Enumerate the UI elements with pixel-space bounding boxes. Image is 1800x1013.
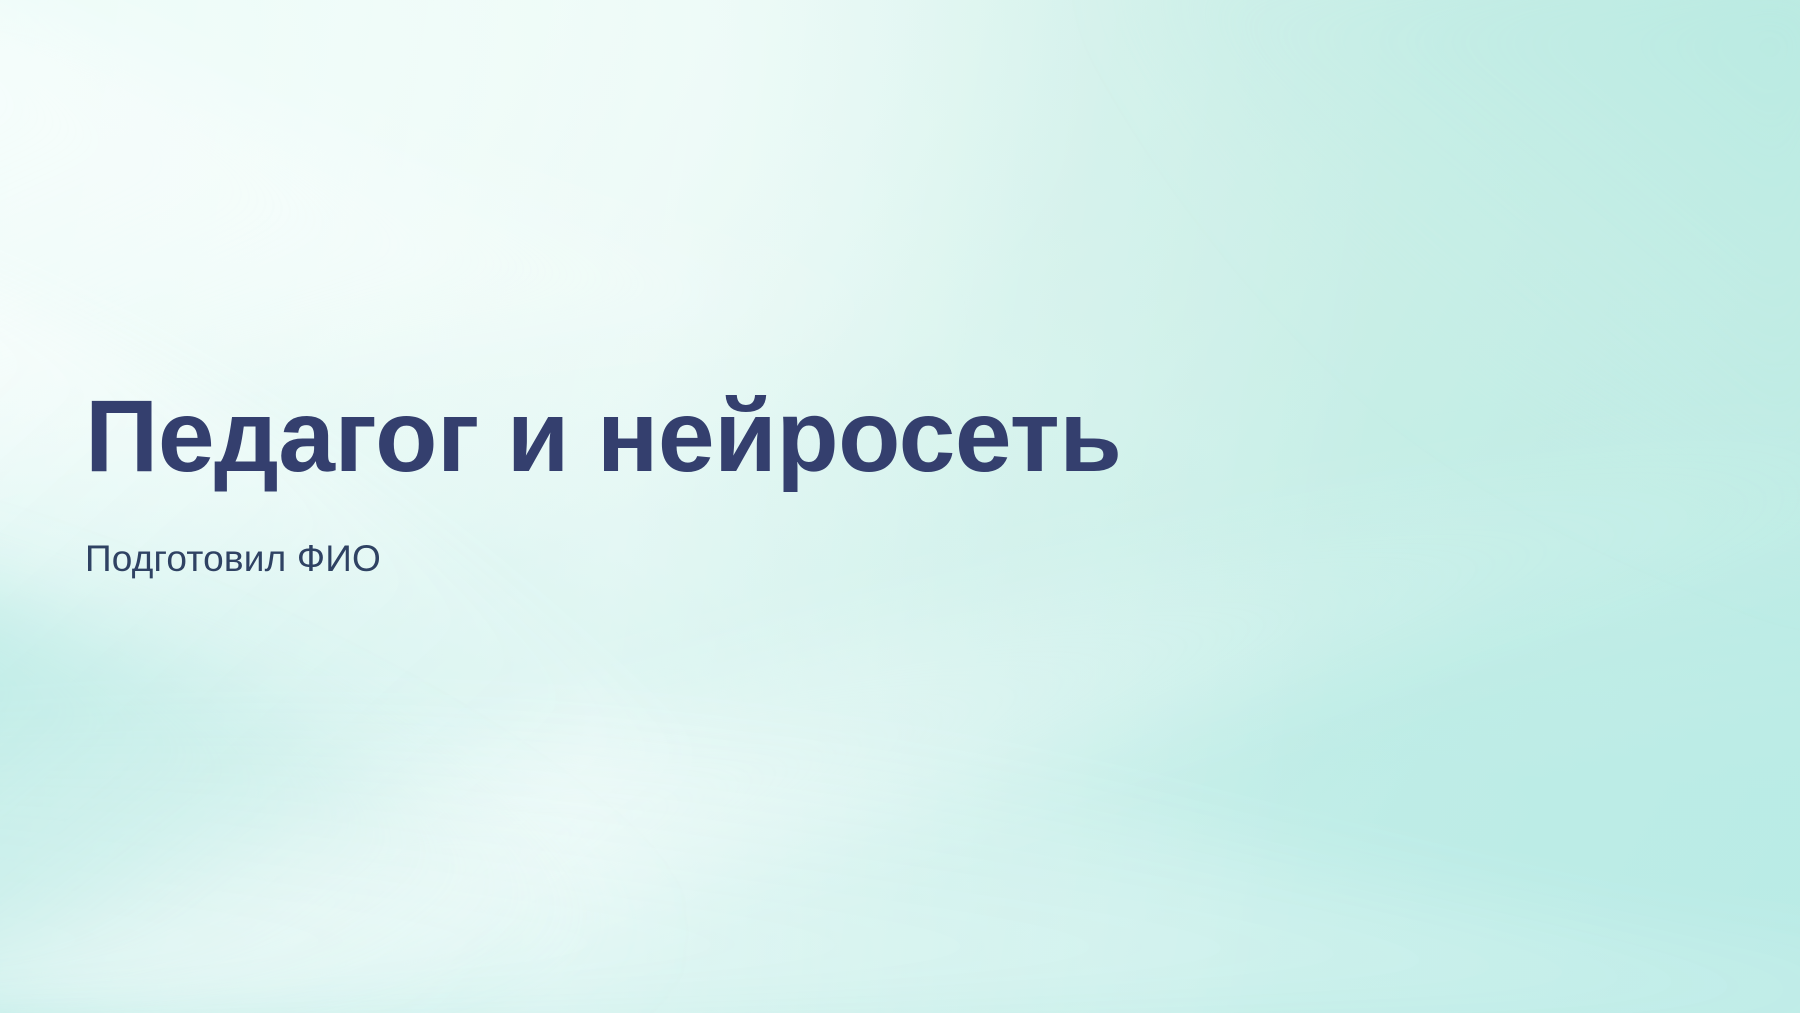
- title-slide: Педагог и нейросеть Подготовил ФИО: [0, 0, 1800, 1013]
- slide-title: Педагог и нейросеть: [85, 385, 1535, 487]
- slide-subtitle: Подготовил ФИО: [85, 487, 1535, 580]
- slide-text-block: Педагог и нейросеть Подготовил ФИО: [85, 385, 1535, 580]
- wave-bottom-ribbon: [0, 560, 820, 1013]
- wave-diagonal-streak-left: [0, 230, 700, 1013]
- wave-lower-curve: [0, 727, 1800, 1013]
